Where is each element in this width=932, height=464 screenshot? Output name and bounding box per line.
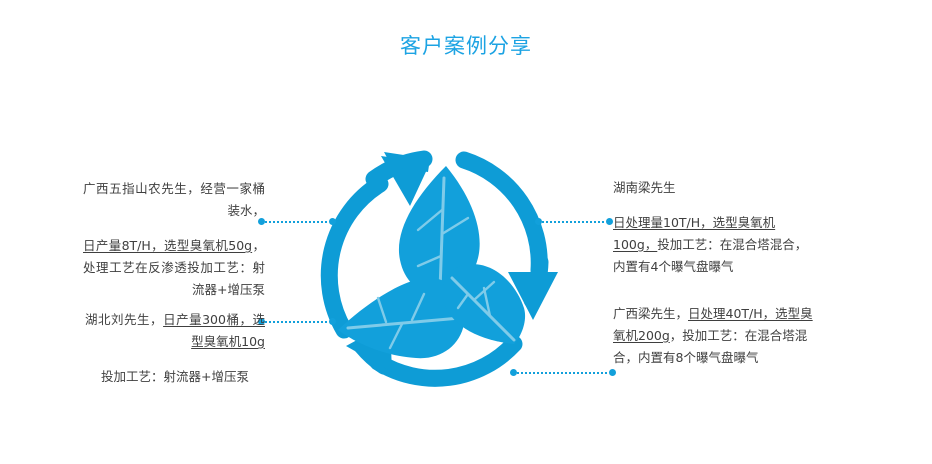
connector-dash [265,221,329,223]
connector-dot-end [609,369,616,376]
connector-dash [265,321,329,323]
connector-dot-end [329,218,336,225]
page-title: 客户案例分享 [0,32,932,60]
case-bl-line-2: 投加工艺：射流器+增压泵 [85,366,265,388]
connector-bottom-right [510,369,616,376]
connector-dot-end [606,218,613,225]
case-tr-line-1: 日处理量10T/H，选型臭氧机100g，投加工艺：在混合塔混合，内置有4个曝气盘… [613,212,809,278]
case-tl-highlight: 日产量8T/H，选型臭氧机50g [83,238,252,253]
case-tl-spacer [83,222,265,235]
connector-dot-start [535,218,542,225]
case-bl-name: 湖北刘先生， [85,312,163,327]
case-tl-line-1: 广西五指山农先生，经营一家桶装水， [83,178,265,222]
case-bl-spacer [85,353,265,366]
connector-dash [542,221,606,223]
case-tl-line-3: +增压泵 [217,282,265,297]
case-bl-line-1: 湖北刘先生，日产量300桶，选型臭氧机10g [85,309,265,353]
case-card-top-left: 广西五指山农先生，经营一家桶装水， 日产量8T/H，选型臭氧机50g，处理工艺在… [83,178,265,301]
case-tl-line-2: 日产量8T/H，选型臭氧机50g，处理工艺在反渗透投加工艺：射流器+增压泵 [83,235,265,301]
case-br-line-1: 广西梁先生，日处理40T/H，选型臭氧机200g，投加工艺：在混合塔混合，内置有… [613,303,813,369]
case-tr-spacer [613,199,809,212]
case-bl-highlight: 日产量300桶，选型臭氧机10g [163,312,265,349]
case-card-top-right: 湖南梁先生 日处理量10T/H，选型臭氧机100g，投加工艺：在混合塔混合，内置… [613,177,809,278]
case-br-name: 广西梁先生， [613,306,688,321]
connector-dot-end [329,318,336,325]
connector-top-left [258,218,336,225]
recycle-leaves-logo [318,148,570,394]
connector-dot-start [510,369,517,376]
case-tr-name: 湖南梁先生 [613,177,809,199]
connector-top-right [535,218,613,225]
case-card-bottom-left: 湖北刘先生，日产量300桶，选型臭氧机10g 投加工艺：射流器+增压泵 [85,309,265,388]
connector-bottom-left [258,318,336,325]
case-card-bottom-right: 广西梁先生，日处理40T/H，选型臭氧机200g，投加工艺：在混合塔混合，内置有… [613,303,813,369]
connector-dash [517,372,609,374]
